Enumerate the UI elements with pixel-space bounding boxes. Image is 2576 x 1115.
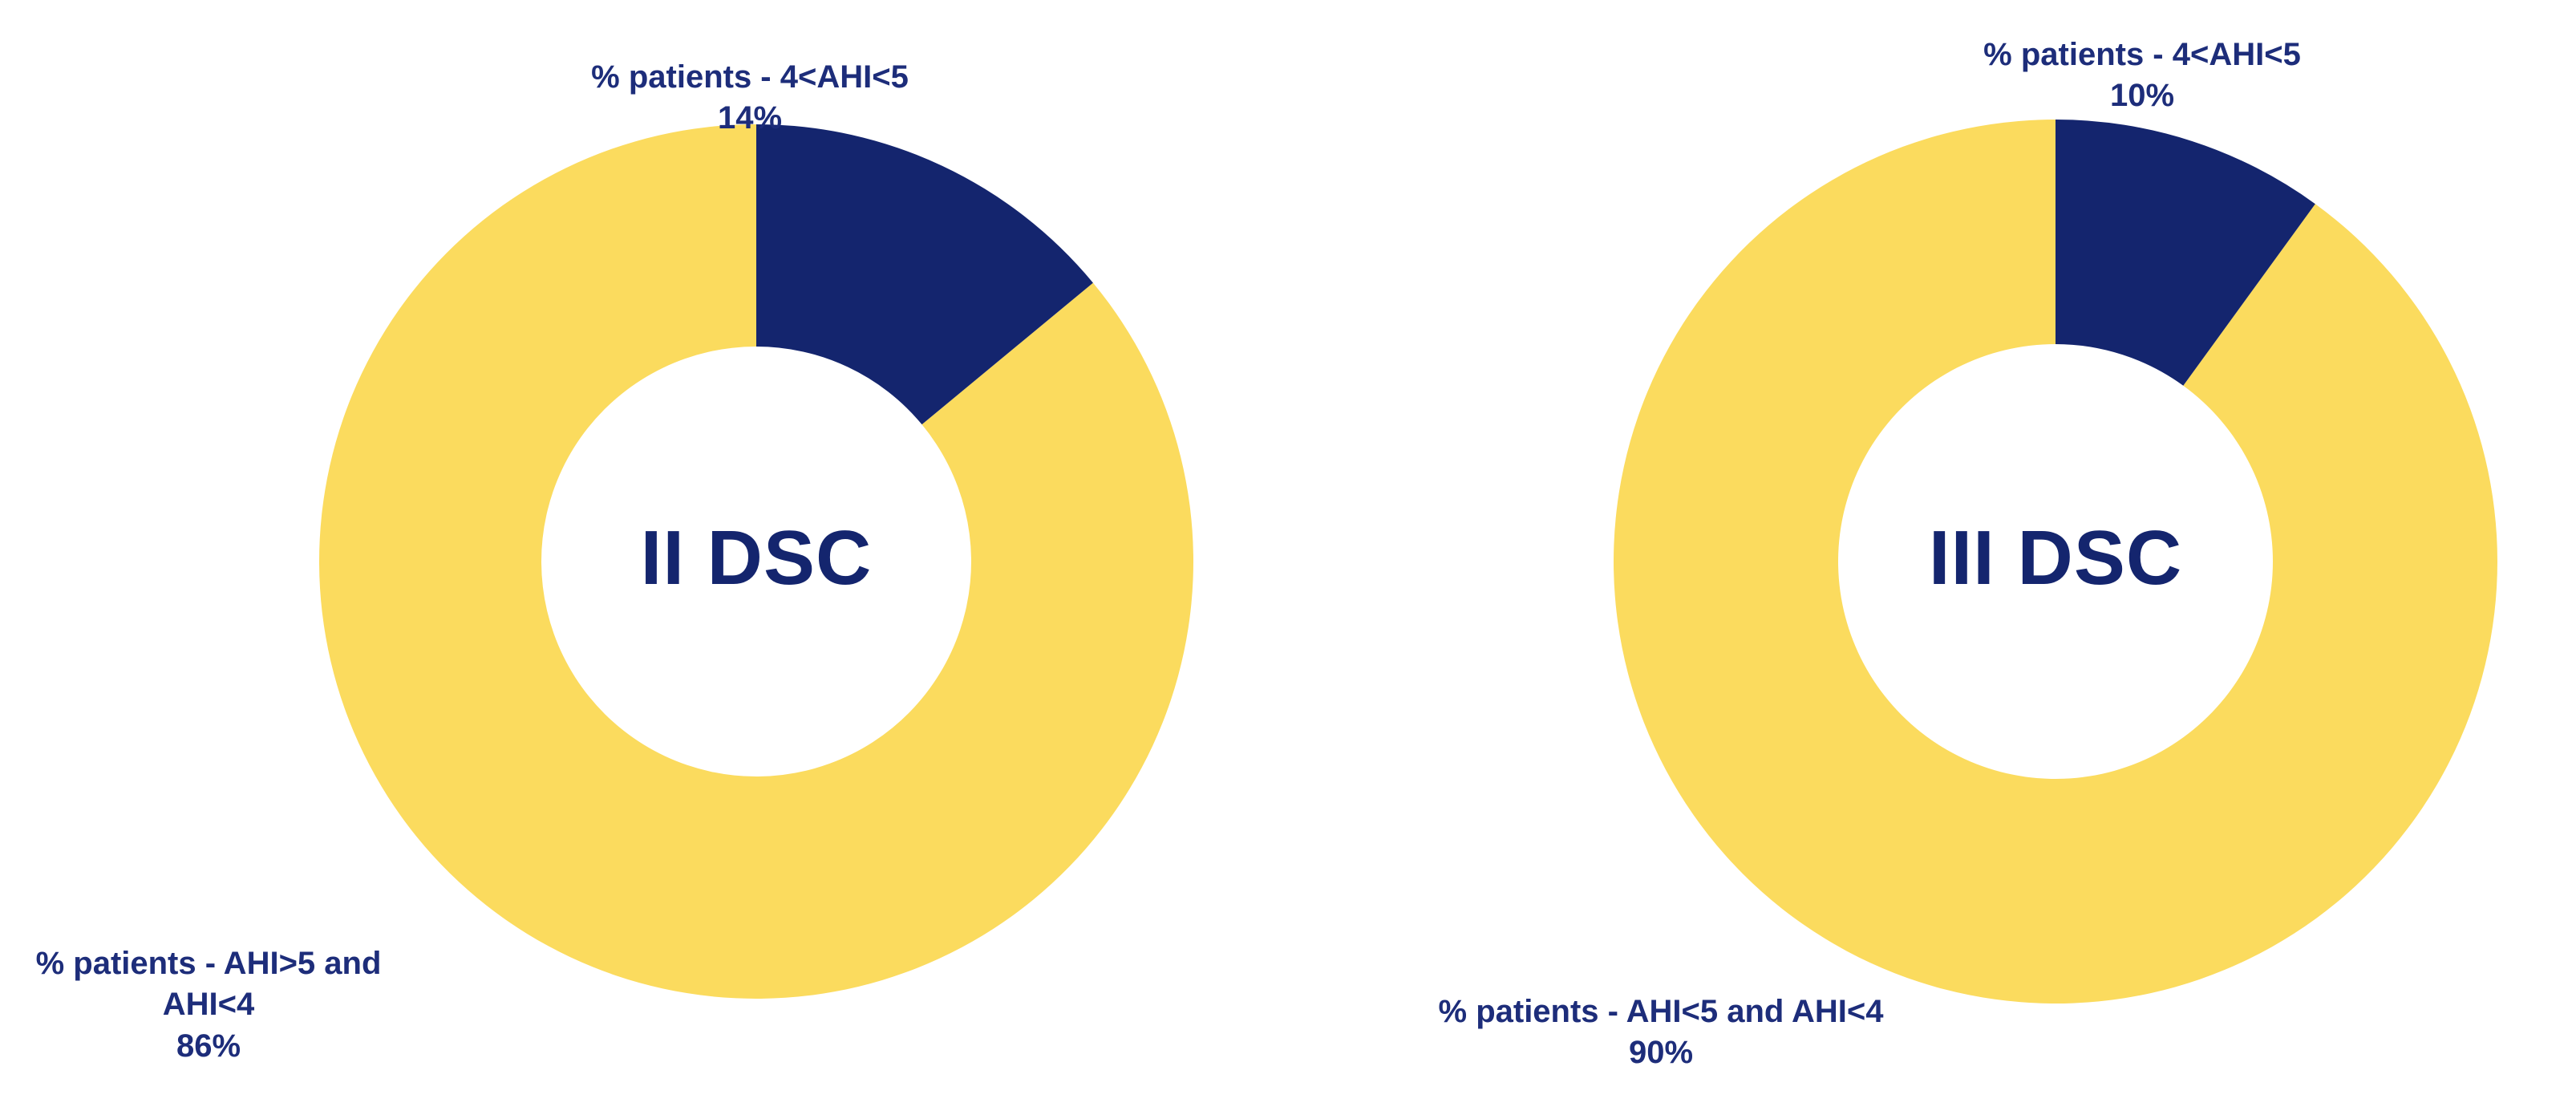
callout-navy-right: % patients - 4<AHI<5 10% [1721,0,2563,158]
callout-navy-right-value: 10% [1721,75,2563,116]
callout-yellow-right-value: 90% [1256,1032,2066,1073]
callout-yellow-left-value: 86% [0,1026,513,1067]
callout-yellow-left-text: % patients - AHI>5 and AHI<4 [36,946,382,1022]
donut-center-label-left: II DSC [435,520,1077,597]
callout-yellow-left: % patients - AHI>5 and AHI<4 86% [0,902,513,1108]
donut-chart-left: II DSC % patients - 4<AHI<5 14% % patien… [0,0,1288,1090]
callout-yellow-right-text: % patients - AHI<5 and AHI<4 [1439,994,1884,1029]
callout-navy-right-text: % patients - 4<AHI<5 [1983,37,2301,72]
callout-navy-left-value: 14% [349,98,1151,139]
callout-navy-left: % patients - 4<AHI<5 14% [349,16,1151,180]
donut-chart-right: III DSC % patients - 4<AHI<5 10% % patie… [1288,0,2576,1090]
figure-canvas: II DSC % patients - 4<AHI<5 14% % patien… [0,0,2576,1090]
donut-center-label-right: III DSC [1735,520,2376,597]
callout-navy-left-text: % patients - 4<AHI<5 [591,59,909,95]
callout-yellow-right: % patients - AHI<5 and AHI<4 90% [1256,951,2066,1115]
